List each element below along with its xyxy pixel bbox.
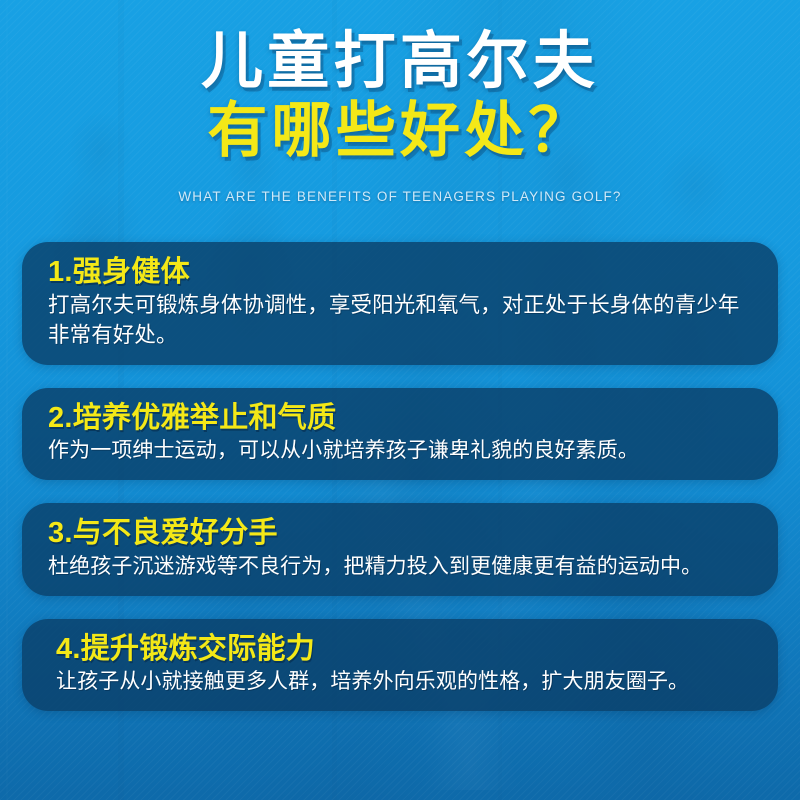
benefits-list: 1.强身健体 打高尔夫可锻炼身体协调性，享受阳光和氧气，对正处于长身体的青少年非…	[0, 242, 800, 711]
poster-subtitle-english: WHAT ARE THE BENEFITS OF TEENAGERS PLAYI…	[0, 189, 800, 204]
poster-header: 儿童打高尔夫 有哪些好处？ WHAT ARE THE BENEFITS OF T…	[0, 0, 800, 204]
benefit-card-4-title: 4.提升锻炼交际能力	[56, 631, 752, 668]
benefit-card-1-title: 1.强身健体	[48, 254, 752, 291]
benefit-card-4-body: 让孩子从小就接触更多人群，培养外向乐观的性格，扩大朋友圈子。	[56, 668, 752, 697]
benefit-card-3-title: 3.与不良爱好分手	[48, 515, 752, 552]
benefit-card-4: 4.提升锻炼交际能力 让孩子从小就接触更多人群，培养外向乐观的性格，扩大朋友圈子…	[22, 619, 778, 712]
golf-benefits-poster: 儿童打高尔夫 有哪些好处？ WHAT ARE THE BENEFITS OF T…	[0, 0, 800, 800]
benefit-card-2-title: 2.培养优雅举止和气质	[48, 400, 752, 437]
benefit-card-3-body: 杜绝孩子沉迷游戏等不良行为，把精力投入到更健康更有益的运动中。	[48, 553, 752, 582]
benefit-card-1-body: 打高尔夫可锻炼身体协调性，享受阳光和氧气，对正处于长身体的青少年非常有好处。	[48, 291, 752, 350]
benefit-card-3: 3.与不良爱好分手 杜绝孩子沉迷游戏等不良行为，把精力投入到更健康更有益的运动中…	[22, 503, 778, 596]
benefit-card-1: 1.强身健体 打高尔夫可锻炼身体协调性，享受阳光和氧气，对正处于长身体的青少年非…	[22, 242, 778, 365]
benefit-card-2: 2.培养优雅举止和气质 作为一项绅士运动，可以从小就培养孩子谦卑礼貌的良好素质。	[22, 388, 778, 481]
poster-title-line-2: 有哪些好处？	[0, 100, 800, 162]
poster-title-line-1: 儿童打高尔夫	[0, 30, 800, 94]
benefit-card-2-body: 作为一项绅士运动，可以从小就培养孩子谦卑礼貌的良好素质。	[48, 437, 752, 466]
